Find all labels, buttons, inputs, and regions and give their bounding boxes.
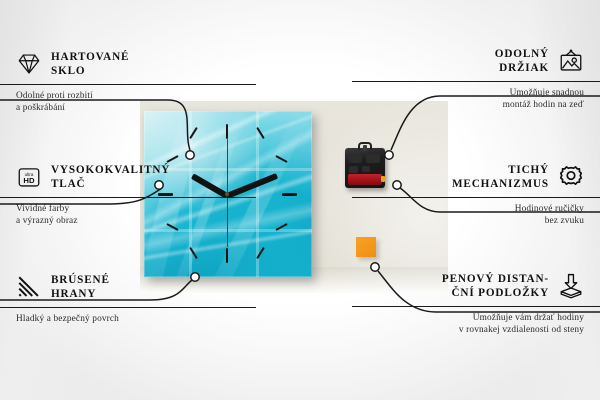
feature-description: Hladký a bezpečný povrch <box>16 313 248 326</box>
feature-divider <box>352 81 600 82</box>
diamond-icon <box>16 51 42 77</box>
feature-durable-hanger: ODOLNÝ DRŽIAK Umožňuje snadnou montáž ho… <box>352 47 584 112</box>
feature-header: PENOVÝ DISTAN- ČNÍ PODLOŽKY <box>352 272 584 301</box>
feature-title: HARTOVANÉ SKLO <box>51 50 129 79</box>
feature-high-quality-print: ultra HD VYSOKOKVALITNÝ TLAČ Vividné far… <box>16 163 248 228</box>
feature-header: HARTOVANÉ SKLO <box>16 50 248 79</box>
mechanism-shaft <box>363 145 367 151</box>
hour-marker <box>282 193 297 196</box>
feature-header: ultra HD VYSOKOKVALITNÝ TLAČ <box>16 163 248 192</box>
feature-tempered-glass: HARTOVANÉ SKLO Odolné proti rozbití a po… <box>16 50 248 115</box>
feature-silent-mechanism: TICHÝ MECHANIZMUS Hodinové ručičky bez z… <box>352 163 584 228</box>
feature-header: ODOLNÝ DRŽIAK <box>352 47 584 76</box>
press-down-pad-icon <box>558 273 584 299</box>
feature-description: Hodinové ručičky bez zvuku <box>352 203 584 228</box>
feature-divider <box>352 306 600 307</box>
gear-icon <box>558 164 584 190</box>
svg-text:HD: HD <box>23 176 35 185</box>
feature-description: Umožňuje vám držať hodiny v rovnakej vzd… <box>352 312 584 337</box>
feature-description: Vividné farby a výrazný obraz <box>16 203 248 228</box>
feature-polished-edges: BRÚSENÉ HRANY Hladký a bezpečný povrch <box>16 273 248 325</box>
beveled-edge-icon <box>16 274 42 300</box>
feature-title: PENOVÝ DISTAN- ČNÍ PODLOŽKY <box>442 272 549 301</box>
infographic-canvas: HARTOVANÉ SKLO Odolné proti rozbití a po… <box>0 0 600 400</box>
feature-header: BRÚSENÉ HRANY <box>16 273 248 302</box>
ultra-hd-icon: ultra HD <box>16 164 42 190</box>
feature-divider <box>0 307 256 308</box>
feature-divider <box>0 197 256 198</box>
foam-spacer-pad <box>356 237 376 257</box>
feature-title: VYSOKOKVALITNÝ TLAČ <box>51 163 170 192</box>
feature-divider <box>0 84 256 85</box>
feature-header: TICHÝ MECHANIZMUS <box>352 163 584 192</box>
feature-title: BRÚSENÉ HRANY <box>51 273 110 302</box>
feature-description: Odolné proti rozbití a poškrábání <box>16 90 248 115</box>
hour-marker <box>226 124 228 139</box>
feature-foam-spacers: PENOVÝ DISTAN- ČNÍ PODLOŽKY Umožňuje vám… <box>352 272 584 337</box>
feature-divider <box>352 197 600 198</box>
hour-marker <box>226 248 228 263</box>
feature-title: TICHÝ MECHANIZMUS <box>452 163 549 192</box>
feature-title: ODOLNÝ DRŽIAK <box>495 47 549 76</box>
framed-picture-hanger-icon <box>558 48 584 74</box>
feature-description: Umožňuje snadnou montáž hodin na zeď <box>352 87 584 112</box>
